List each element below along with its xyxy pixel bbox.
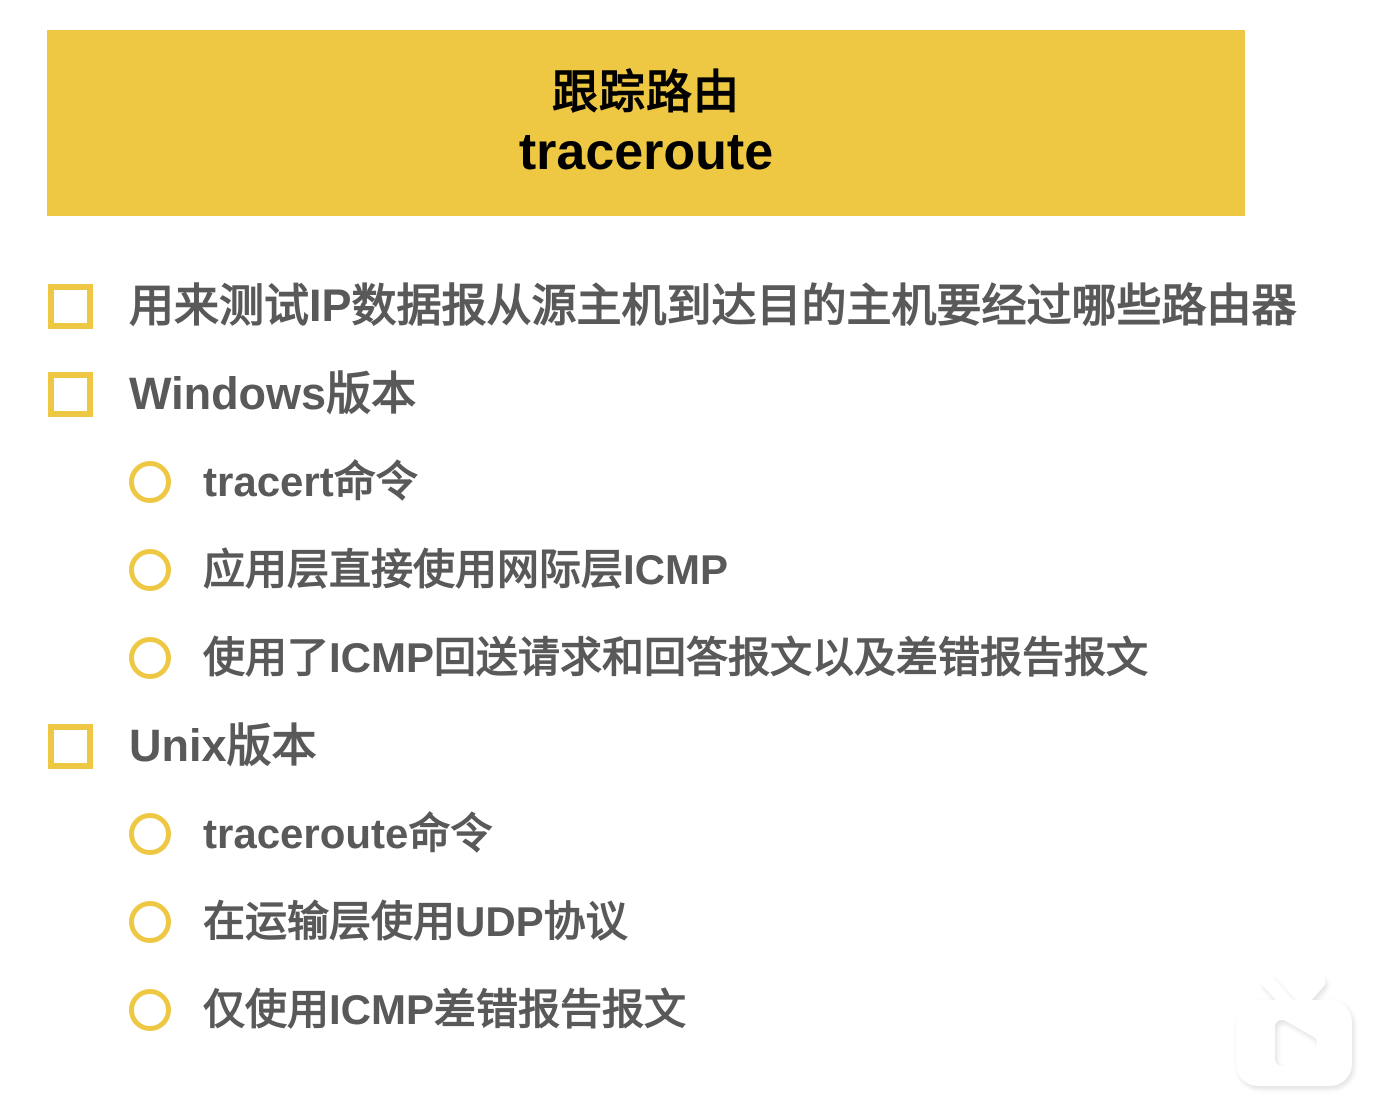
list-item-label: traceroute命令 — [203, 809, 492, 859]
circle-bullet-icon — [129, 989, 171, 1031]
list-item: Unix版本 — [0, 702, 1386, 790]
list-item: tracert命令 — [0, 438, 1386, 526]
list-item: Windows版本 — [0, 350, 1386, 438]
outline-list: 用来测试IP数据报从源主机到达目的主机要经过哪些路由器 Windows版本 tr… — [0, 262, 1386, 1054]
square-bullet-icon — [48, 724, 93, 769]
list-item: traceroute命令 — [0, 790, 1386, 878]
page-title-cn: 跟踪路由 — [552, 63, 740, 121]
list-item-label: Windows版本 — [129, 368, 416, 420]
circle-bullet-icon — [129, 461, 171, 503]
list-item-label: 使用了ICMP回送请求和回答报文以及差错报告报文 — [203, 633, 1148, 683]
circle-bullet-icon — [129, 549, 171, 591]
circle-bullet-icon — [129, 901, 171, 943]
list-item-label: 应用层直接使用网际层ICMP — [203, 545, 728, 595]
square-bullet-icon — [48, 372, 93, 417]
title-banner: 跟踪路由 traceroute — [47, 30, 1245, 216]
list-item: 用来测试IP数据报从源主机到达目的主机要经过哪些路由器 — [0, 262, 1386, 350]
circle-bullet-icon — [129, 637, 171, 679]
square-bullet-icon — [48, 284, 93, 329]
list-item-label: 用来测试IP数据报从源主机到达目的主机要经过哪些路由器 — [129, 280, 1297, 332]
list-item: 应用层直接使用网际层ICMP — [0, 526, 1386, 614]
list-item: 在运输层使用UDP协议 — [0, 878, 1386, 966]
list-item-label: 在运输层使用UDP协议 — [203, 897, 628, 947]
page-title-en: traceroute — [519, 121, 773, 183]
list-item: 使用了ICMP回送请求和回答报文以及差错报告报文 — [0, 614, 1386, 702]
list-item: 仅使用ICMP差错报告报文 — [0, 966, 1386, 1054]
list-item-label: Unix版本 — [129, 720, 317, 772]
list-item-label: 仅使用ICMP差错报告报文 — [203, 985, 686, 1035]
circle-bullet-icon — [129, 813, 171, 855]
list-item-label: tracert命令 — [203, 457, 418, 507]
